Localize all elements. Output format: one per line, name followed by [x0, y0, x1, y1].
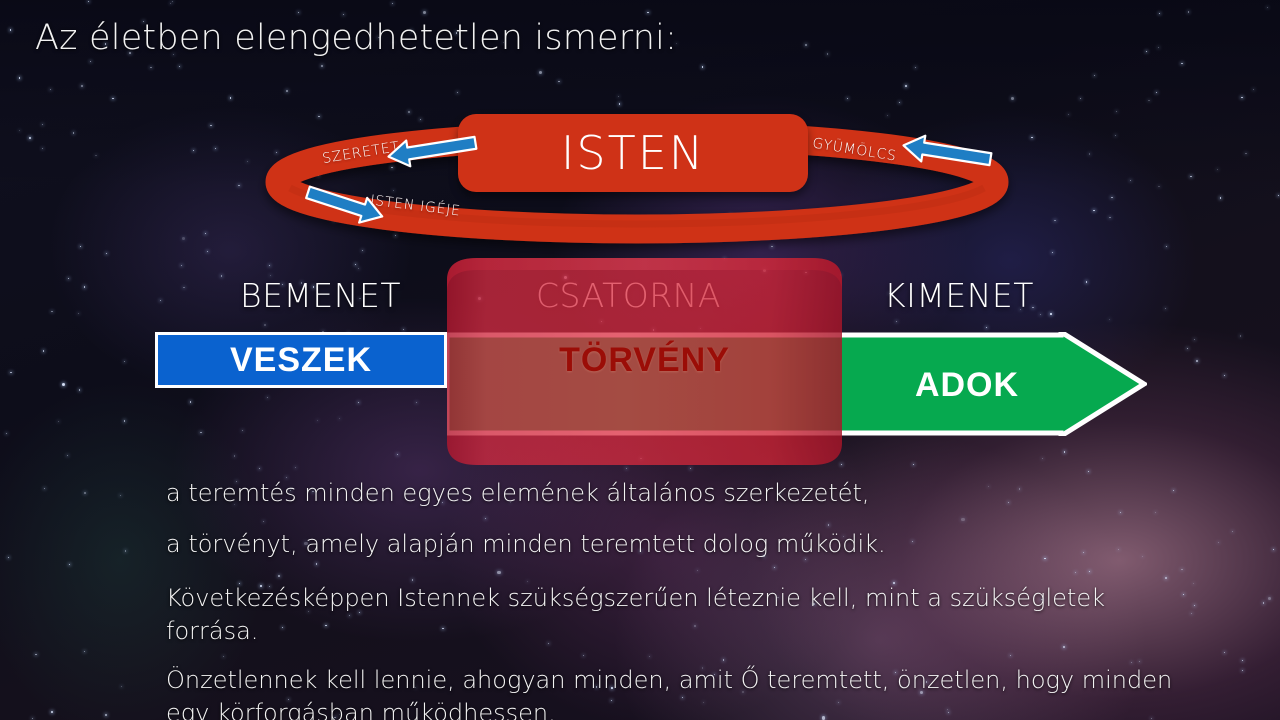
arrow-isten-igeje-icon: [302, 185, 392, 225]
cycle-diagram: ISTEN SZERETET GYÜMÖLCS ISTEN IGÉJE: [0, 0, 1280, 260]
caption-bemenet: BEMENET: [240, 276, 401, 315]
arrow-gyumolcs-icon: [895, 132, 995, 172]
green-arrow-icon: [447, 332, 1147, 436]
body-line-1: a teremtés minden egyes elemének általán…: [166, 472, 1176, 515]
body-line-3: Következésképpen Istennek szükségszerűen…: [166, 582, 1176, 648]
input-bar-veszek: VESZEK: [155, 332, 447, 388]
output-arrow-adok: ADOK: [447, 332, 1147, 436]
isten-box: ISTEN: [458, 114, 808, 192]
body-line-2: a törvényt, amely alapján minden teremte…: [166, 523, 1176, 566]
isten-label: ISTEN: [561, 126, 705, 180]
body-text-block: a teremtés minden egyes elemének általán…: [166, 472, 1176, 720]
caption-kimenet: KIMENET: [884, 276, 1034, 315]
caption-csatorna: CSATORNA: [536, 276, 721, 315]
input-bar-label: VESZEK: [230, 341, 372, 380]
slide-root: Az életben elengedhetetlen ismerni: ISTE…: [0, 0, 1280, 720]
arrow-szeretet-icon: [380, 132, 480, 168]
body-line-4: Önzetlennek kell lennie, ahogyan minden,…: [166, 664, 1176, 720]
